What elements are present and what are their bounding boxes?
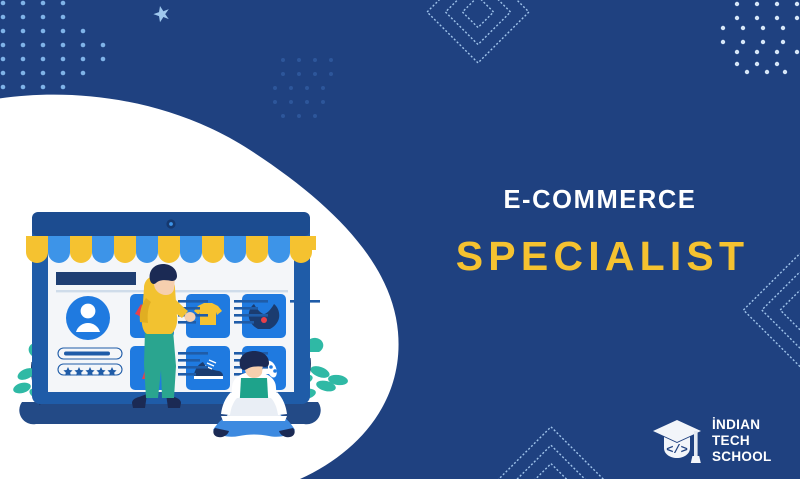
graduation-cap-code-icon: </> [650,415,706,467]
logo-line-3: SCHOOL [712,449,772,465]
logo-wordmark: İNDIAN TECH SCHOOL [712,417,772,465]
brand-logo[interactable]: </> İNDIAN TECH SCHOOL [650,412,790,470]
user-avatar [66,296,110,340]
logo-line-2: TECH [712,433,772,449]
headline-line-2: SPECIALIST [430,236,770,277]
logo-line-1: İNDIAN [712,417,772,433]
logo-code-glyph: </> [666,443,688,457]
headline-block: E-COMMERCE SPECIALIST [430,188,770,277]
ecommerce-specialist-banner: E-COMMERCE SPECIALIST </> İNDIAN TECH SC… [0,0,800,479]
headline-line-1: E-COMMERCE [430,188,770,214]
